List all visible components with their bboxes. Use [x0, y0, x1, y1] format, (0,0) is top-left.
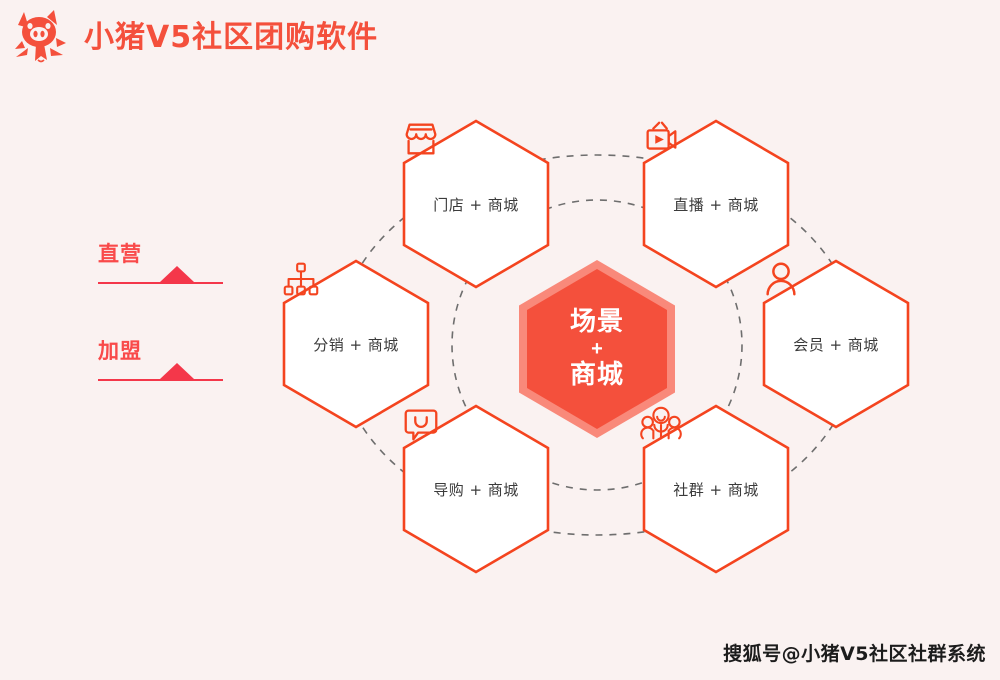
center-plus-sign: +: [591, 338, 603, 360]
hexagon-diagram: 门店 + 商城 直播 + 商城: [0, 0, 1000, 680]
org-chart-icon: [280, 258, 322, 300]
hex-label-live: 直播 + 商城: [673, 194, 759, 215]
user-person-icon: [760, 258, 802, 300]
hex-label-distribution: 分销 + 商城: [313, 334, 399, 355]
storefront-icon: [400, 118, 442, 160]
watermark-text: 搜狐号@小猪V5社区社群系统: [723, 639, 986, 666]
page-root: 小猪V5社区团购软件 直营 加盟: [0, 0, 1000, 680]
center-line-2: 商城: [570, 360, 624, 391]
smiley-chat-bubble-icon: [400, 403, 442, 445]
hex-label-member: 会员 + 商城: [793, 334, 879, 355]
hex-label-guide: 导购 + 商城: [433, 479, 519, 500]
hex-label-community: 社群 + 商城: [673, 479, 759, 500]
center-line-1: 场景: [570, 307, 624, 338]
hex-node-center[interactable]: 场景 + 商城: [516, 258, 678, 440]
hex-label-store: 门店 + 商城: [433, 194, 519, 215]
live-video-camera-icon: [640, 118, 682, 160]
